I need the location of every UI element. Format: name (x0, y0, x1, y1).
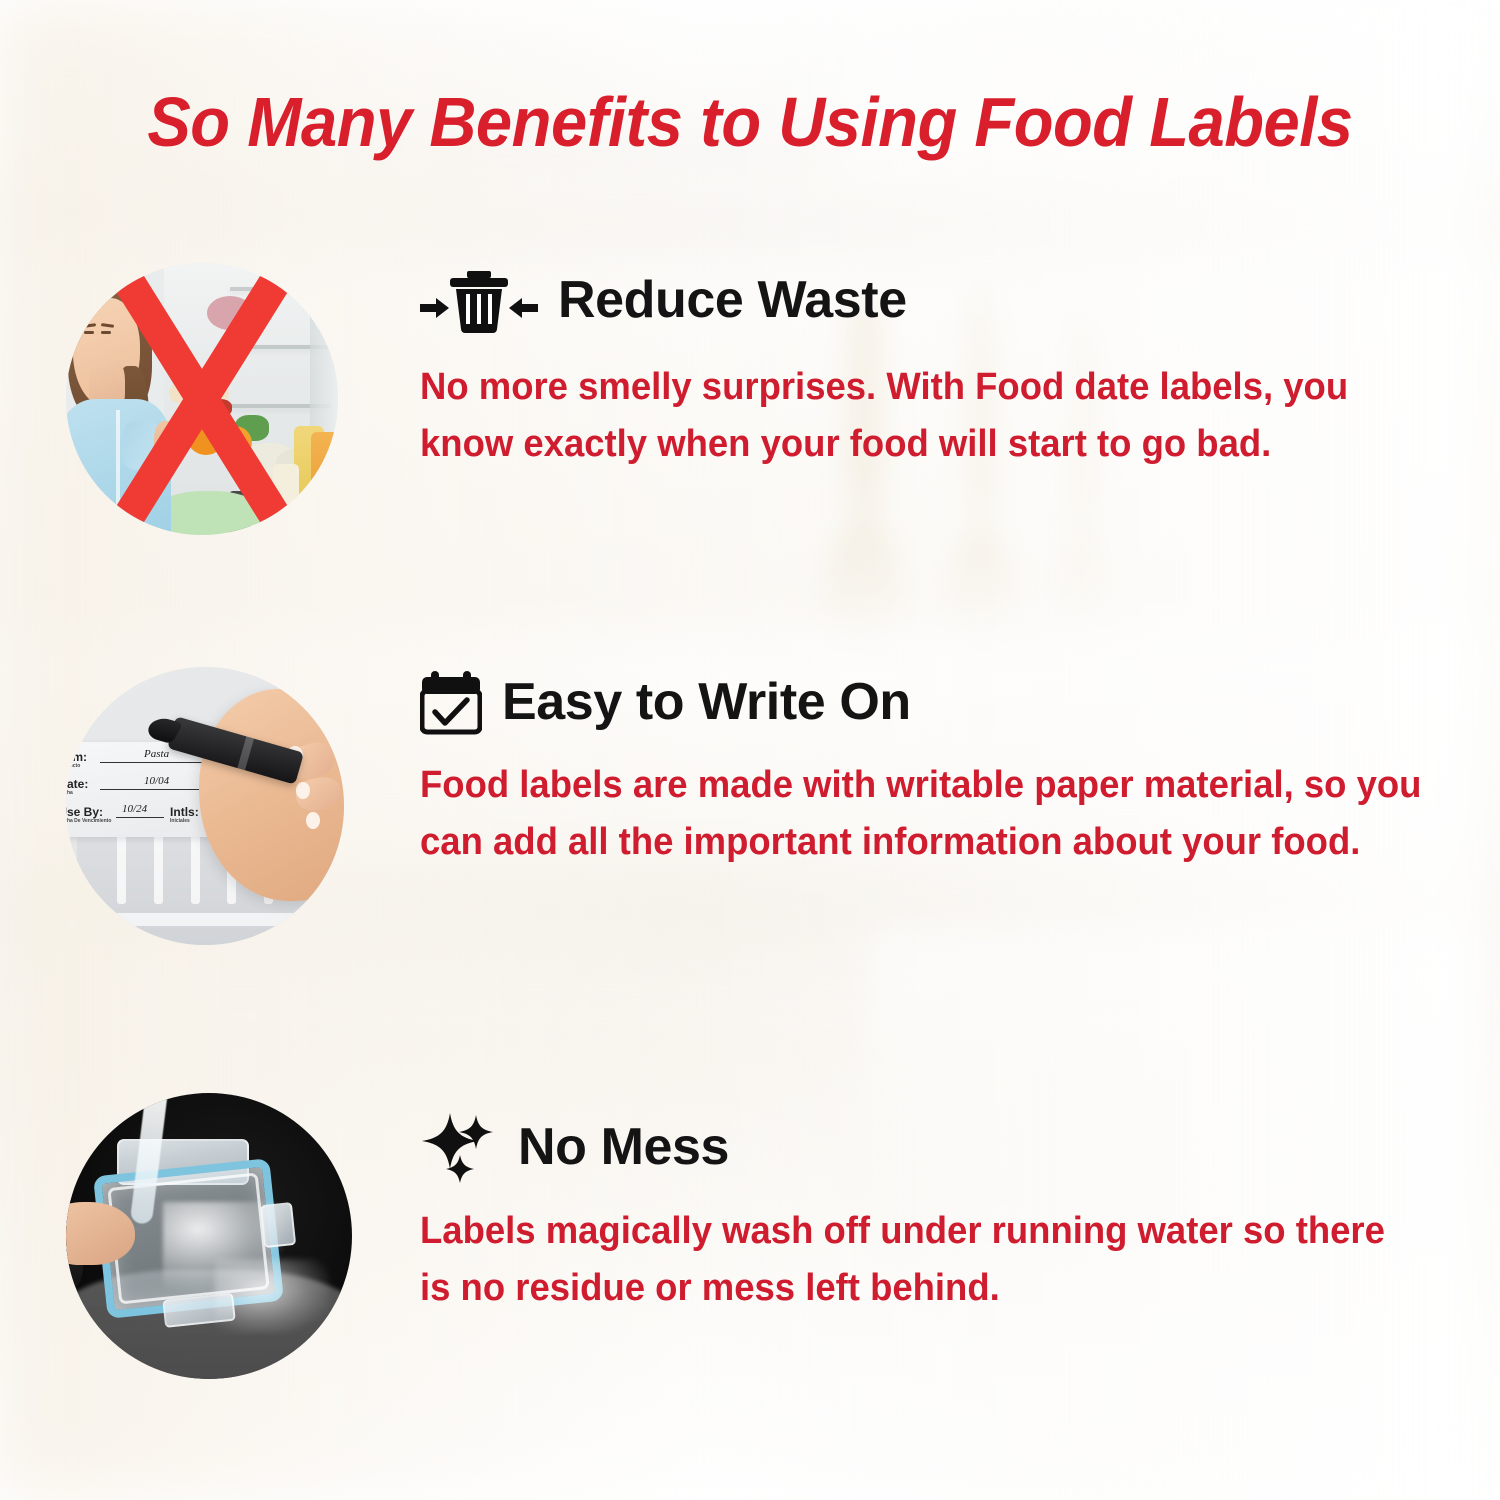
label-key-subtext: Fecha (66, 791, 100, 796)
label-key-subtext: Iniciales (170, 819, 204, 824)
label-key-initials: Intls: Iniciales (170, 806, 204, 824)
sparkles-icon (420, 1111, 498, 1183)
washing-food-container-under-running-water-photo (66, 1093, 352, 1379)
label-key-use-by: Use By: Fecha De Vencimiento (66, 806, 116, 824)
hand-writing-on-food-label-with-marker-photo: Item: Producto Pasta Date: Fecha (66, 667, 344, 945)
label-writing-scene: Item: Producto Pasta Date: Fecha (66, 667, 344, 945)
label-value-date: 10/04 (144, 775, 169, 787)
benefit-text-easy-to-write-on: Easy to Write On Food labels are made wi… (420, 667, 1466, 871)
benefit-body: Food labels are made with writable paper… (420, 757, 1424, 871)
label-key-text: Use By: (66, 806, 116, 818)
fingernail (296, 782, 310, 799)
benefit-heading-line: Reduce Waste (420, 267, 1466, 333)
page-title: So Many Benefits to Using Food Labels (53, 86, 1448, 159)
water-splash (215, 1259, 329, 1333)
benefit-heading: No Mess (518, 1121, 729, 1173)
benefit-heading: Easy to Write On (502, 676, 911, 728)
benefit-heading-line: Easy to Write On (420, 669, 1466, 735)
benefit-body: No more smelly surprises. With Food date… (420, 359, 1424, 473)
benefit-row-no-mess: No Mess Labels magically wash off under … (66, 1093, 1466, 1379)
benefit-text-reduce-waste: Reduce Waste No more smelly surprises. W… (420, 263, 1466, 473)
label-key-item: Item: Producto (66, 751, 100, 769)
label-write-line: 10/24 (116, 817, 164, 818)
label-key-subtext: Producto (66, 764, 100, 769)
benefit-row-reduce-waste: Reduce Waste No more smelly surprises. W… (66, 263, 1466, 535)
benefit-text-no-mess: No Mess Labels magically wash off under … (420, 1093, 1466, 1317)
calendar-check-icon (420, 669, 482, 735)
red-x-mark-overlay (66, 263, 338, 535)
tray-rim (94, 913, 344, 926)
fingernail (306, 812, 320, 829)
washing-scene (66, 1093, 352, 1379)
label-key-date: Date: Fecha (66, 778, 100, 796)
label-key-text: Intls: (170, 806, 204, 818)
label-key-subtext: Fecha De Vencimiento (66, 819, 116, 824)
benefit-body: Labels magically wash off under running … (420, 1203, 1424, 1317)
benefit-heading-line: No Mess (420, 1111, 1466, 1183)
trash-reduce-icon (420, 267, 538, 333)
benefit-heading: Reduce Waste (558, 274, 907, 326)
label-key-text: Item: (66, 751, 100, 763)
benefit-row-easy-to-write-on: Item: Producto Pasta Date: Fecha (66, 667, 1466, 945)
label-key-text: Date: (66, 778, 100, 790)
label-value-item: Pasta (144, 748, 169, 760)
food-labels-benefits-infographic: So Many Benefits to Using Food Labels (0, 0, 1500, 1500)
label-value-use-by: 10/24 (122, 803, 147, 815)
woman-holding-nose-at-open-refrigerator-photo (66, 263, 338, 535)
